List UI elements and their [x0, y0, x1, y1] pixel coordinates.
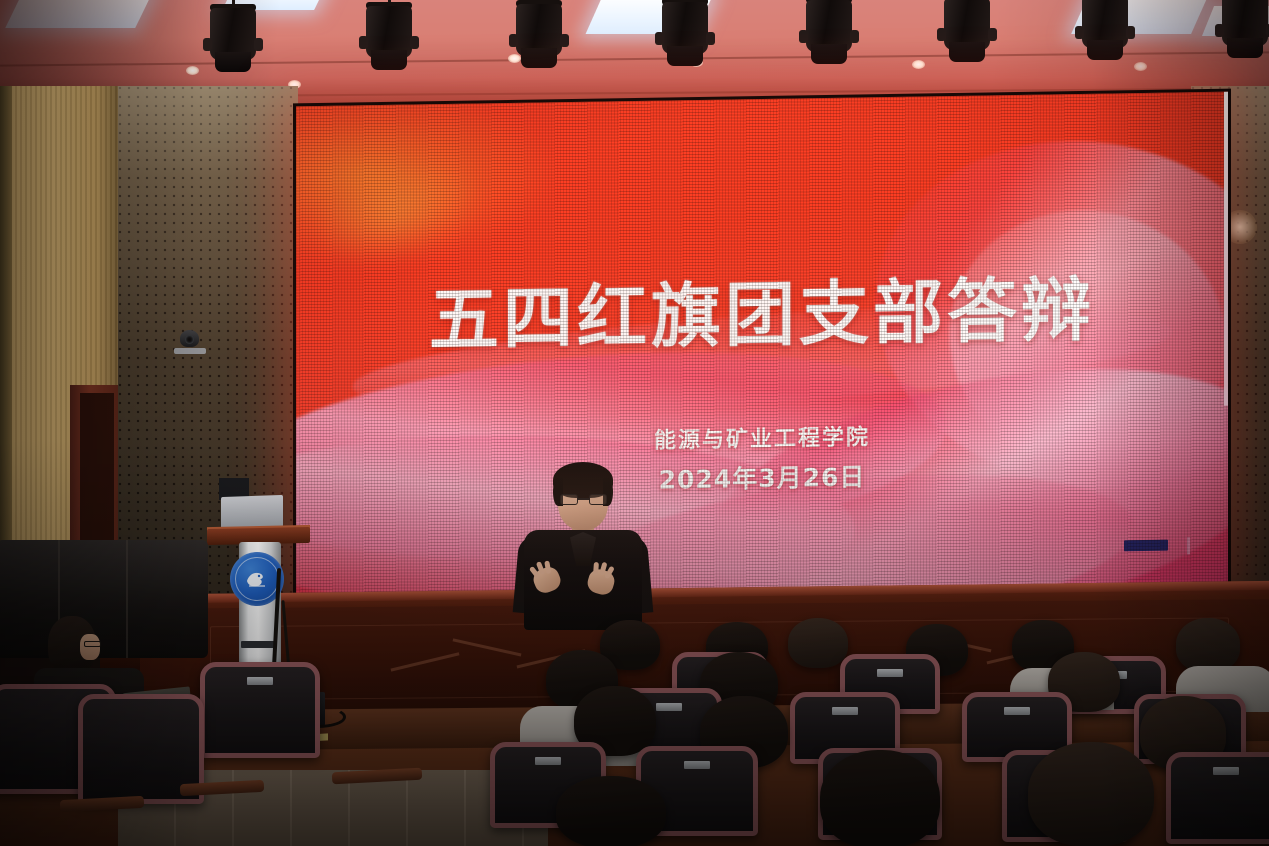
- seat-number-plate: [832, 707, 858, 715]
- spotlight-knob: [1215, 24, 1224, 37]
- spotlight-knob: [254, 38, 263, 51]
- seat-number-plate: [1004, 707, 1030, 715]
- spotlight-knob: [410, 36, 419, 49]
- spotlight-knob: [1126, 26, 1135, 39]
- spotlight-lens: [1227, 38, 1263, 58]
- audience-head: [556, 776, 666, 846]
- seat-armrest: [60, 796, 145, 812]
- spotlight-knob: [988, 28, 997, 41]
- glasses-bridge: [578, 498, 589, 500]
- glasses-lens: [589, 494, 607, 505]
- camera-lens: [185, 335, 194, 344]
- stage-spotlight: [1082, 0, 1128, 62]
- spotlight-lens: [521, 48, 557, 68]
- spotlight-knob: [655, 32, 664, 45]
- stage-spotlight: [366, 0, 412, 72]
- stage-spotlight: [806, 0, 852, 66]
- spotlight-knob: [1075, 26, 1084, 39]
- auditorium-scene: 五四红旗团支部答辩 能源与矿业工程学院 2024年3月26日: [0, 0, 1269, 846]
- audience-head: [820, 750, 940, 846]
- stage-spotlight: [944, 0, 990, 64]
- stage-spotlight: [662, 0, 708, 68]
- spotlight-knob: [359, 36, 368, 49]
- audience-seating: [0, 600, 1269, 846]
- stage-spotlight: [1222, 0, 1268, 60]
- spotlight-knob: [203, 38, 212, 51]
- led-screen: 五四红旗团支部答辩 能源与矿业工程学院 2024年3月26日: [296, 92, 1228, 597]
- audience-head: [1176, 618, 1240, 672]
- seat-number-plate: [684, 761, 710, 769]
- spotlight-lens: [811, 44, 847, 64]
- eyeglasses-icon: [560, 494, 607, 506]
- presentation-ui-chip: [1124, 540, 1168, 552]
- seat-number-plate: [877, 669, 903, 677]
- spotlight-knob: [509, 34, 518, 47]
- glasses-lens: [560, 494, 578, 505]
- wall-camera-icon: [172, 330, 208, 354]
- audience-seat[interactable]: [200, 662, 320, 758]
- spotlight-knob: [850, 30, 859, 43]
- seat-number-plate: [656, 703, 682, 711]
- spotlight-lens: [1087, 40, 1123, 60]
- led-screen-frame: 五四红旗团支部答辩 能源与矿业工程学院 2024年3月26日: [293, 89, 1231, 600]
- emblem-bird-icon: [243, 568, 271, 590]
- seat-armrest: [332, 768, 423, 785]
- wall-edge-trim: [0, 86, 12, 586]
- seat-number-plate: [535, 757, 561, 765]
- audience-head: [788, 618, 848, 668]
- spotlight-lens: [949, 42, 985, 62]
- spotlight-knob: [706, 32, 715, 45]
- audience-head: [1028, 742, 1154, 846]
- stage-spotlight: [210, 0, 256, 74]
- spotlight-lens: [667, 46, 703, 66]
- laptop-icon: [221, 495, 283, 529]
- camera-base: [174, 348, 206, 354]
- seat-number-plate: [247, 677, 273, 685]
- audience-seat[interactable]: [1166, 752, 1269, 844]
- presenter-finger: [593, 562, 599, 575]
- spotlight-knob: [560, 34, 569, 47]
- spotlight-lens: [215, 52, 251, 72]
- spotlight-lens: [371, 50, 407, 70]
- stage-spotlight: [516, 0, 562, 70]
- seat-number-plate: [1213, 767, 1239, 775]
- spotlight-knob: [799, 30, 808, 43]
- slide-title: 五四红旗团支部答辩: [296, 252, 1228, 368]
- spotlight-knob: [937, 28, 946, 41]
- presentation-ui-cursor: [1187, 537, 1190, 554]
- screen-edge-highlight: [1224, 92, 1228, 406]
